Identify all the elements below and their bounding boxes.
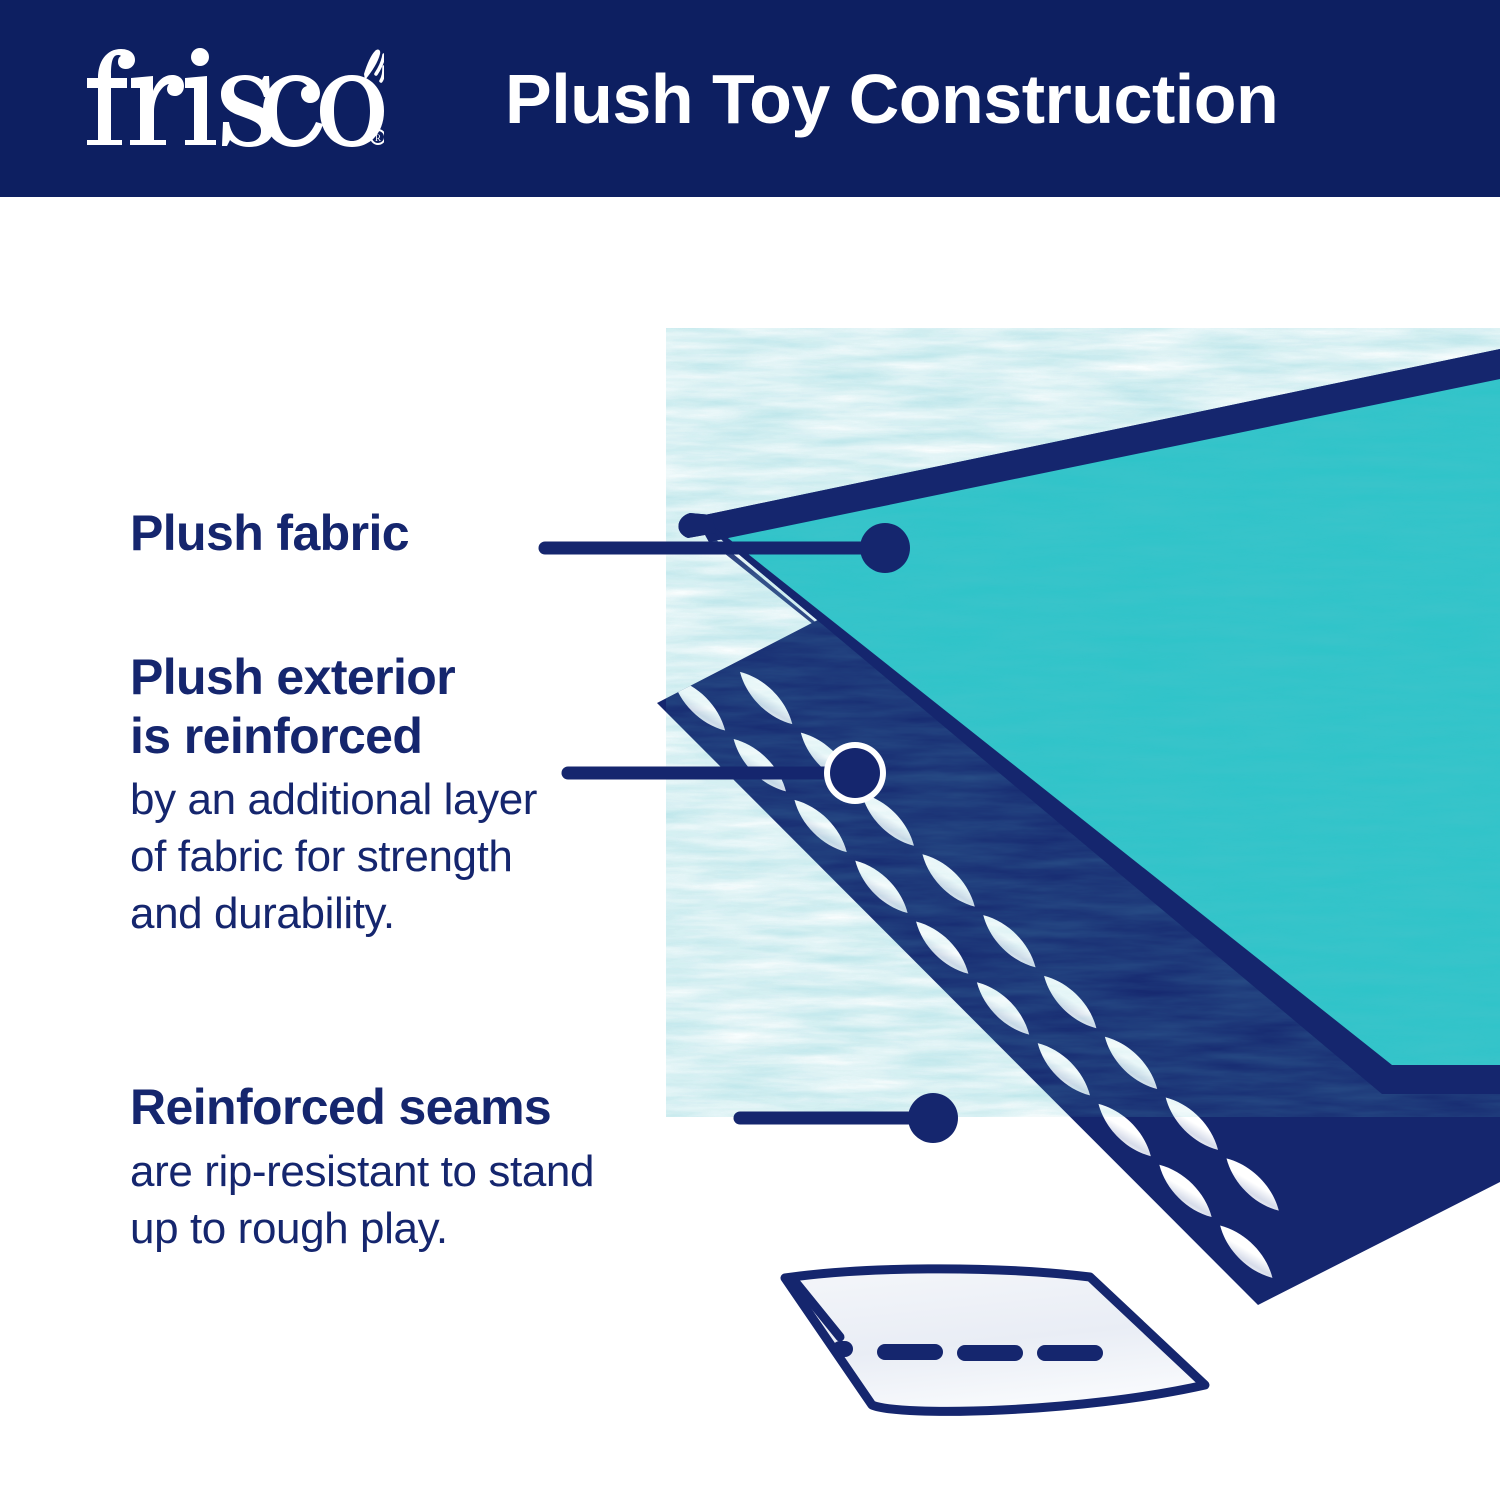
seam-flap-body <box>785 1269 1205 1412</box>
leader-reinforced-seams <box>740 1093 958 1143</box>
callout-plush-fabric: Plush fabric <box>130 504 409 563</box>
callout-reinforced-seams-body: are rip-resistant to stand up to rough p… <box>130 1143 594 1257</box>
svg-text:R: R <box>375 133 381 143</box>
leader-dot-plush-exterior <box>830 748 880 798</box>
callout-plush-exterior: Plush exterior is reinforced by an addit… <box>130 648 537 943</box>
page-title: Plush Toy Construction <box>505 0 1278 197</box>
header-bar: R Plush Toy Construction <box>0 0 1500 197</box>
callout-plush-exterior-heading: Plush exterior is reinforced <box>130 648 537 765</box>
infographic-root: R Plush Toy Construction <box>0 0 1500 1500</box>
leader-dot-plush-fabric <box>860 523 910 573</box>
seam-stitch-line <box>840 1349 1095 1353</box>
frisco-logo-svg: R <box>84 44 384 148</box>
callout-plush-exterior-body: by an additional layer of fabric for str… <box>130 771 537 943</box>
reinforced-seam-flap <box>785 1269 1205 1412</box>
callout-reinforced-seams-heading: Reinforced seams <box>130 1078 594 1137</box>
callout-plush-fabric-heading: Plush fabric <box>130 504 409 563</box>
callout-reinforced-seams: Reinforced seams are rip-resistant to st… <box>130 1078 594 1257</box>
frisco-wordmark-logo: R <box>84 44 384 148</box>
leader-dot-reinforced-seams <box>908 1093 958 1143</box>
